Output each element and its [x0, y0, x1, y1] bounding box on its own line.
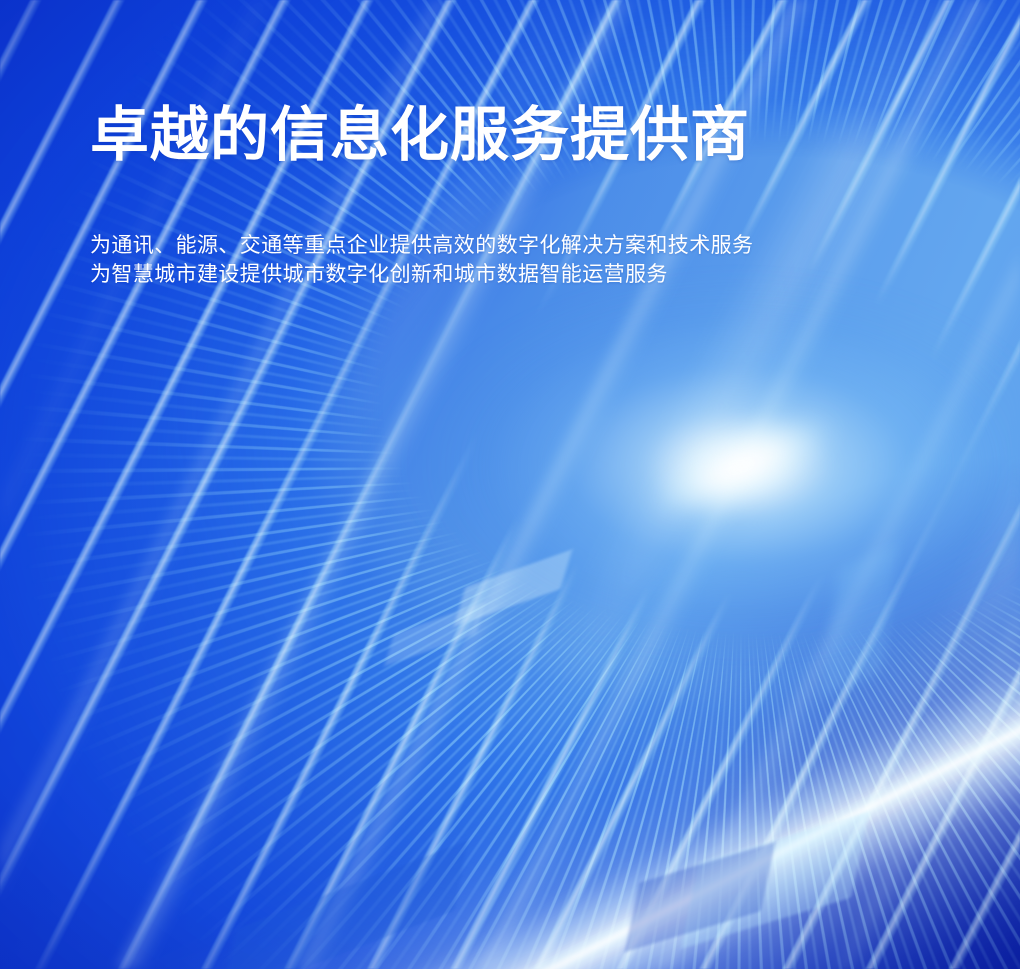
- subtitle-line-2: 为智慧城市建设提供城市数字化创新和城市数据智能运营服务: [90, 260, 890, 289]
- hero-content: 卓越的信息化服务提供商 为通讯、能源、交通等重点企业提供高效的数字化解决方案和技…: [90, 100, 890, 289]
- subtitle-line-1: 为通讯、能源、交通等重点企业提供高效的数字化解决方案和技术服务: [90, 231, 890, 260]
- hero-banner: 卓越的信息化服务提供商 为通讯、能源、交通等重点企业提供高效的数字化解决方案和技…: [0, 0, 1020, 969]
- page-title: 卓越的信息化服务提供商: [90, 100, 890, 170]
- hero-subtitle: 为通讯、能源、交通等重点企业提供高效的数字化解决方案和技术服务 为智慧城市建设提…: [90, 170, 890, 289]
